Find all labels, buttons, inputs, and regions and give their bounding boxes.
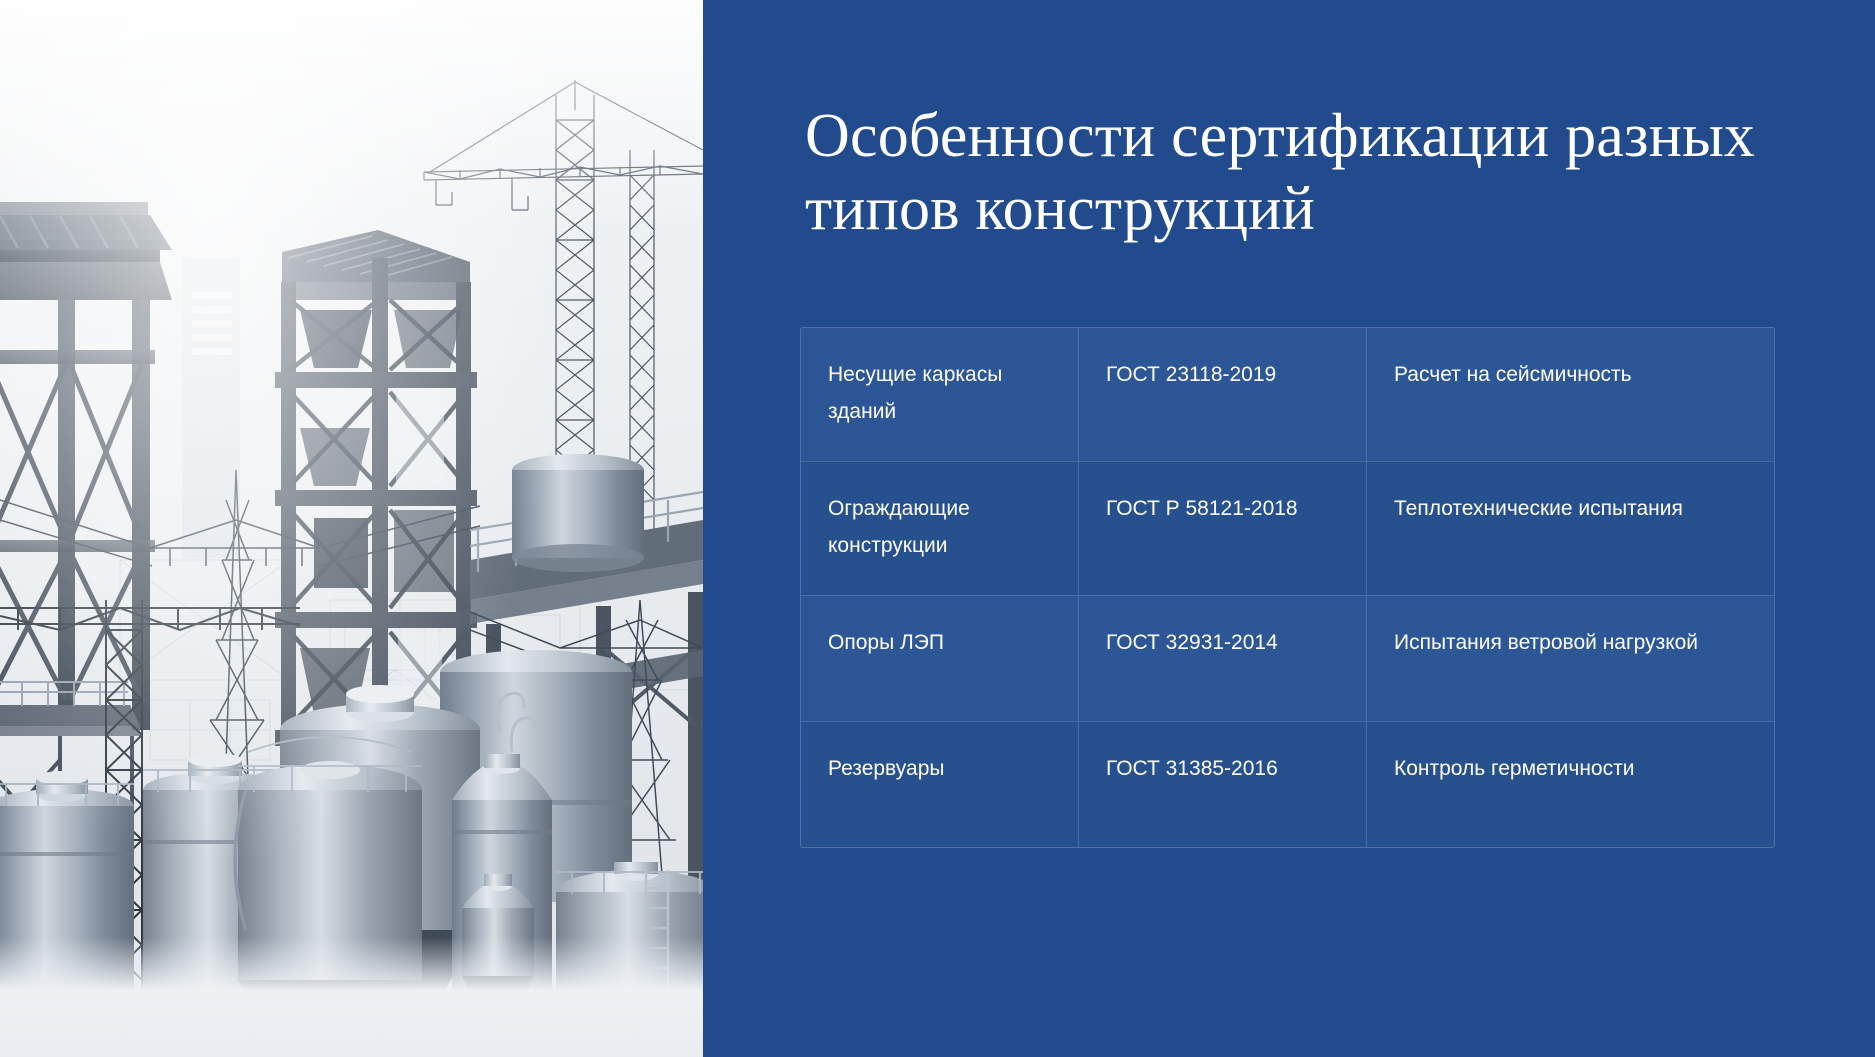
cell-construction-type: Несущие каркасы зданий — [801, 328, 1079, 461]
storage-silo-front — [235, 737, 422, 1052]
cell-requirement: Расчет на сейсмичность — [1367, 328, 1774, 461]
cell-requirement: Испытания ветровой нагрузкой — [1367, 596, 1774, 721]
table-row: Ограждающие конструкции ГОСТ Р 58121-201… — [801, 461, 1774, 595]
storage-tank-back — [512, 454, 644, 572]
storage-tank-1 — [0, 771, 134, 1046]
cell-standard: ГОСТ 31385-2016 — [1079, 722, 1367, 847]
cell-construction-type: Резервуары — [801, 722, 1079, 847]
industrial-illustration — [0, 0, 703, 1057]
content-panel: Особенности сертификации разных типов ко… — [703, 0, 1875, 1057]
storage-silo-right — [556, 862, 703, 1057]
table-row: Опоры ЛЭП ГОСТ 32931-2014 Испытания ветр… — [801, 595, 1774, 721]
storage-tank-small-dome — [462, 874, 534, 1030]
steel-frame-structure — [0, 202, 172, 868]
cell-standard: ГОСТ Р 58121-2018 — [1079, 462, 1367, 595]
cell-requirement: Теплотехнические испытания — [1367, 462, 1774, 595]
page-title: Особенности сертификации разных типов ко… — [805, 100, 1785, 245]
cell-standard: ГОСТ 23118-2019 — [1079, 328, 1367, 461]
cell-construction-type: Ограждающие конструкции — [801, 462, 1079, 595]
cell-requirement: Контроль герметичности — [1367, 722, 1774, 847]
cell-standard: ГОСТ 32931-2014 — [1079, 596, 1367, 721]
slide: Особенности сертификации разных типов ко… — [0, 0, 1875, 1057]
certification-table: Несущие каркасы зданий ГОСТ 23118-2019 Р… — [800, 327, 1775, 848]
table-row: Резервуары ГОСТ 31385-2016 Контроль герм… — [801, 721, 1774, 847]
illustration-panel — [0, 0, 703, 1057]
table-row: Несущие каркасы зданий ГОСТ 23118-2019 Р… — [801, 328, 1774, 461]
cell-construction-type: Опоры ЛЭП — [801, 596, 1079, 721]
